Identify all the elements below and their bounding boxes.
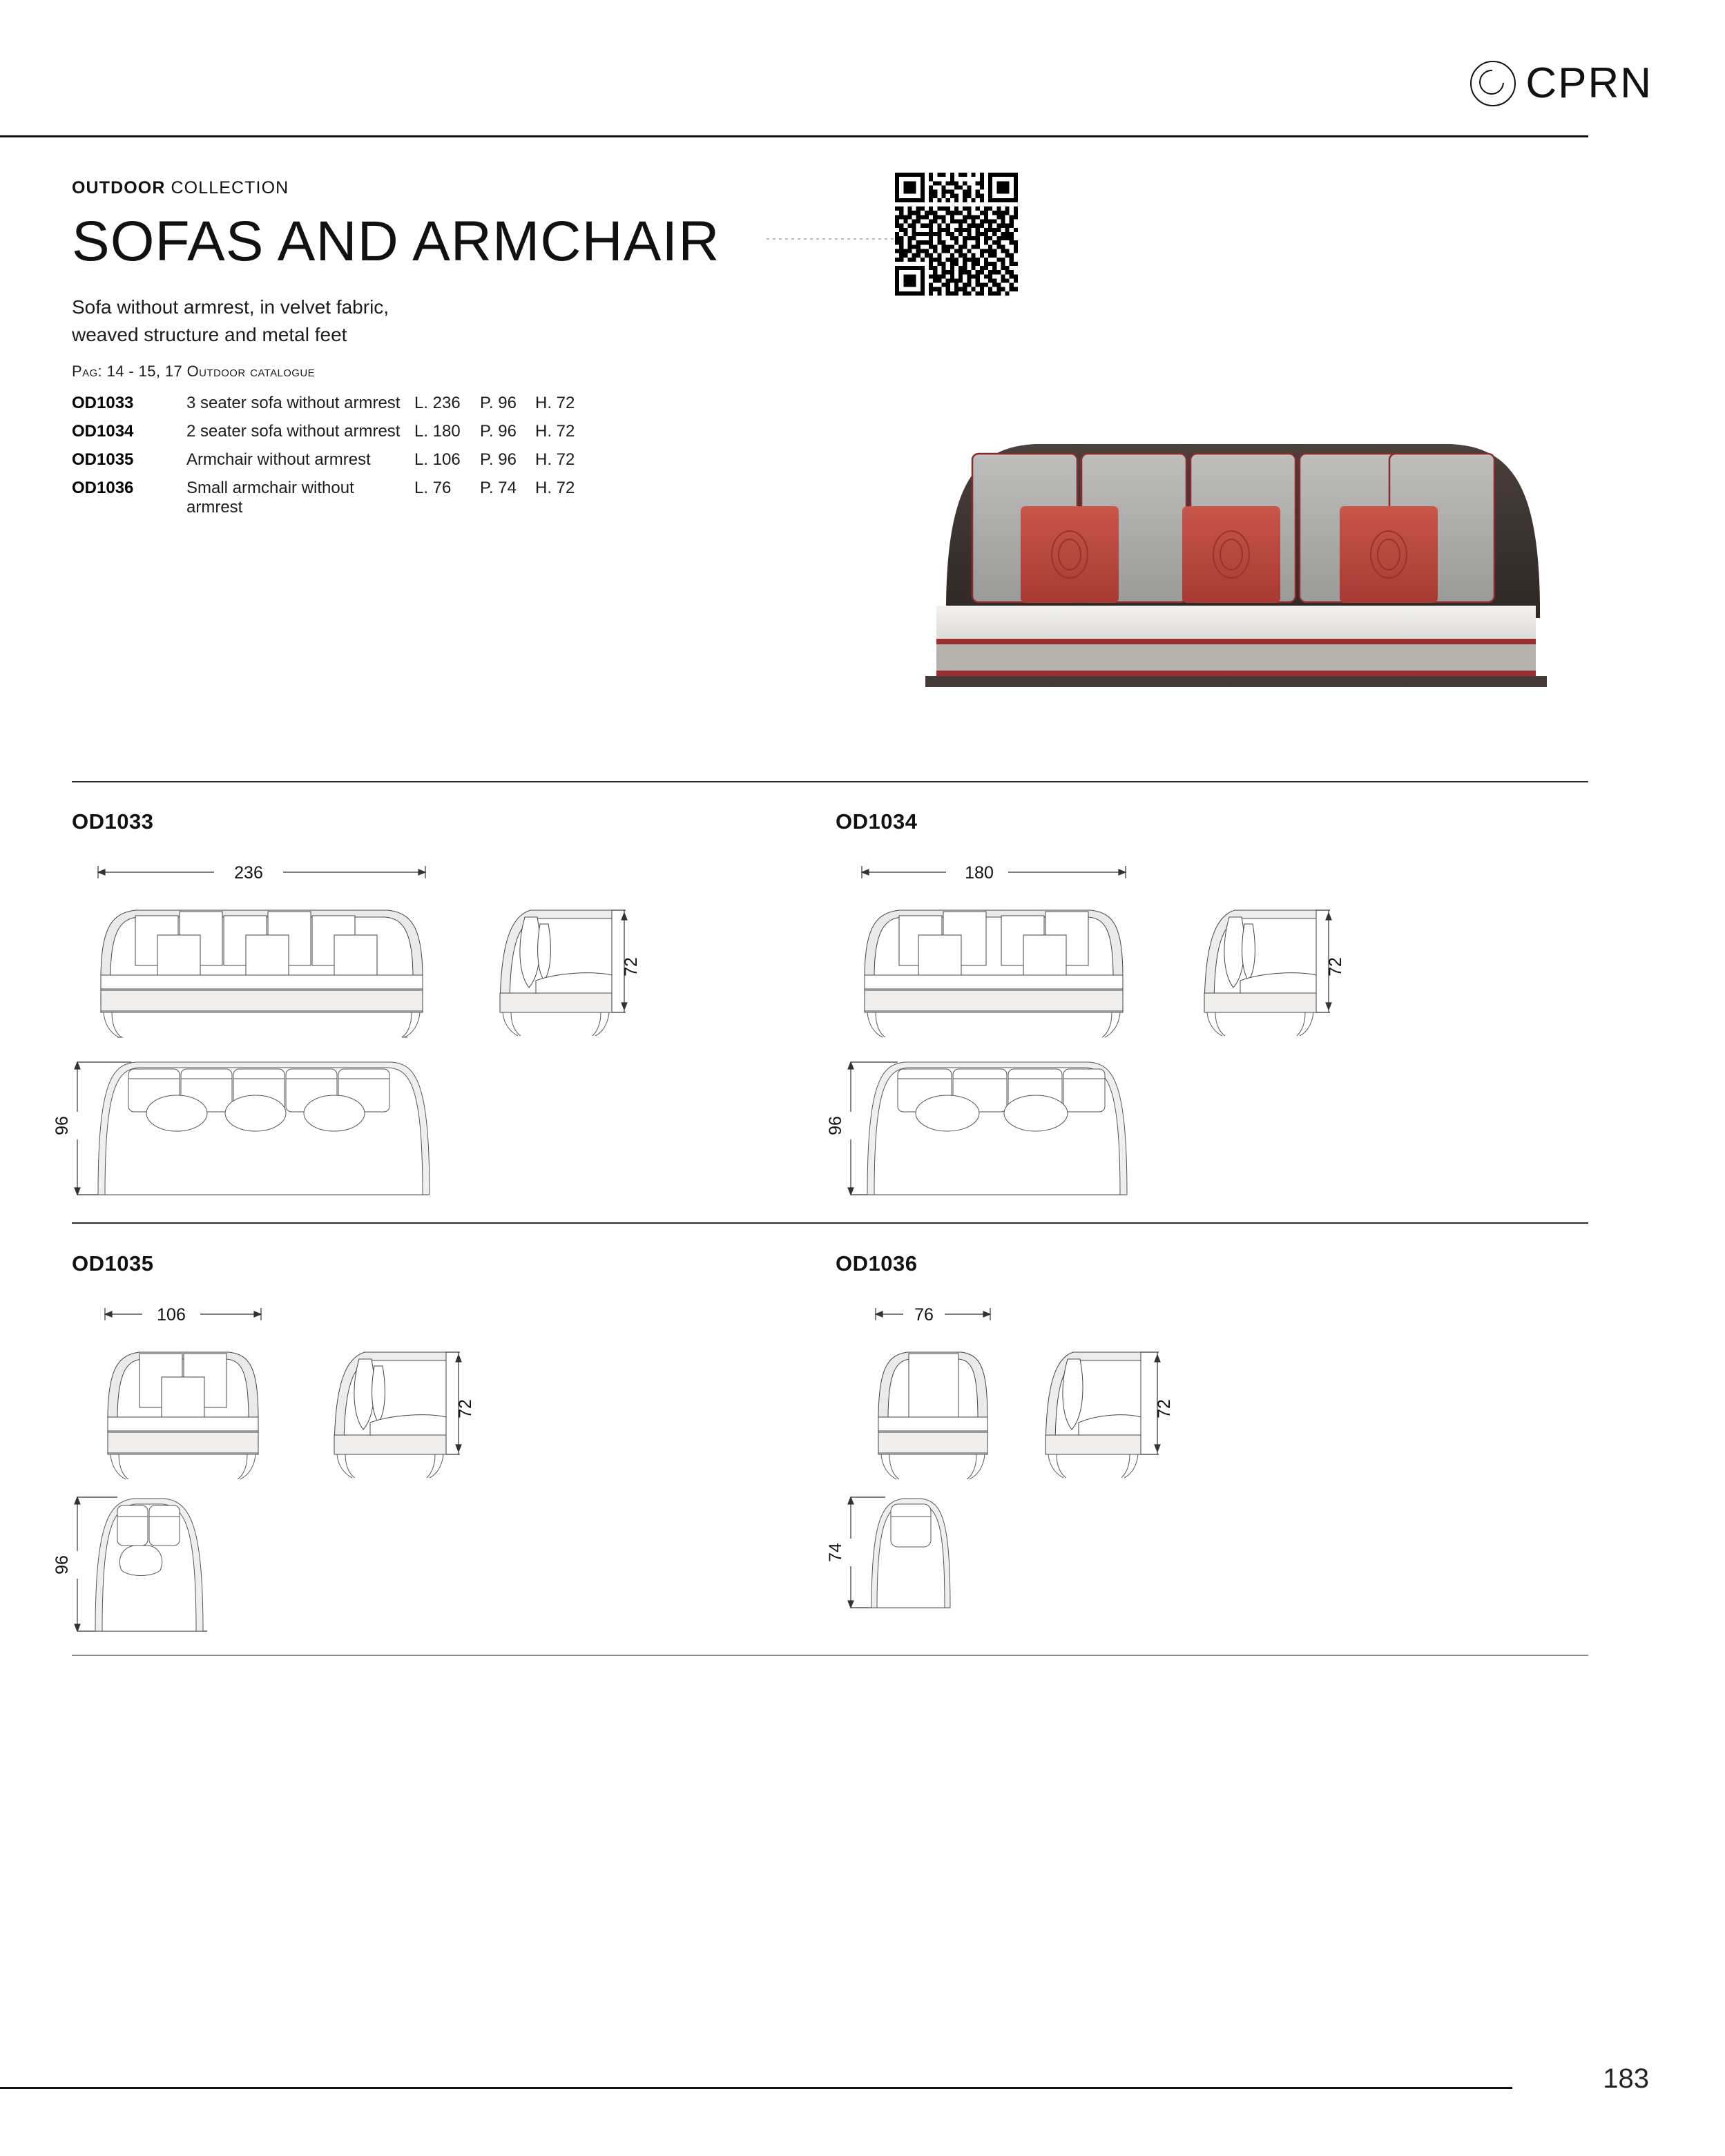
catalogue-page: CPRN OUTDOOR COLLECTION SOFAS AND ARMCHA… — [0, 0, 1725, 2156]
collection-eyebrow: OUTDOOR COLLECTION — [72, 178, 845, 198]
dimension-height-label: 72 — [1155, 1399, 1174, 1418]
collection-eyebrow-bold: OUTDOOR — [72, 178, 165, 198]
dimension-depth-label: 96 — [52, 1555, 72, 1575]
sofa-render-image — [898, 404, 1574, 687]
qr-code[interactable] — [895, 173, 1018, 296]
specification-table: OD1033 3 seater sofa without armrest L. … — [72, 394, 590, 507]
drawing-od1034-front: 180 — [836, 849, 1167, 1015]
section-divider-middle — [72, 1222, 1588, 1224]
product-code: OD1036 — [72, 479, 186, 498]
qr-code-image — [895, 173, 1018, 296]
collection-eyebrow-light: COLLECTION — [171, 178, 289, 198]
circled-c-icon — [1470, 61, 1516, 106]
dimension-depth: P. 74 — [480, 479, 535, 498]
subtitle-line-2: weaved structure and metal feet — [72, 321, 845, 349]
brand-logo: CPRN — [1470, 61, 1652, 106]
drawing-code-od1033: OD1033 — [72, 809, 153, 834]
table-row: OD1034 2 seater sofa without armrest L. … — [72, 422, 590, 450]
dimension-depth-label: 96 — [826, 1116, 845, 1135]
dimension-length: L. 106 — [414, 450, 480, 470]
drawing-od1033-side: 72 — [476, 849, 684, 1015]
drawing-od1033-top: 96 — [48, 1036, 476, 1209]
drawing-code-od1036: OD1036 — [836, 1251, 917, 1276]
drawing-od1036-front: 76 — [856, 1291, 1050, 1457]
subtitle-line-1: Sofa without armrest, in velvet fabric, — [72, 293, 845, 321]
drawing-code-od1034: OD1034 — [836, 809, 917, 834]
drawing-od1034-side: 72 — [1181, 849, 1388, 1015]
product-code: OD1033 — [72, 394, 186, 413]
product-photo — [898, 404, 1574, 687]
dimension-width-label: 106 — [157, 1305, 186, 1325]
accent-pillow-group — [1021, 506, 1438, 603]
product-info-block: OUTDOOR COLLECTION SOFAS AND ARMCHAIR So… — [72, 178, 845, 412]
product-description: 2 seater sofa without armrest — [186, 422, 414, 441]
dimension-length: L. 180 — [414, 422, 480, 441]
dimension-width-label: 76 — [914, 1305, 934, 1325]
drawing-od1033-front: 236 — [69, 849, 456, 1015]
dimension-length: L. 76 — [414, 479, 480, 498]
product-description: Armchair without armrest — [186, 450, 414, 470]
drawing-od1036-side: 72 — [1022, 1291, 1229, 1457]
product-subtitle: Sofa without armrest, in velvet fabric, … — [72, 293, 845, 349]
drawing-od1035-front: 106 — [83, 1291, 304, 1457]
dimension-height: H. 72 — [535, 479, 590, 498]
product-description: 3 seater sofa without armrest — [186, 394, 414, 413]
product-code: OD1035 — [72, 450, 186, 470]
table-row: OD1036 Small armchair without armrest L.… — [72, 479, 590, 507]
drawing-od1034-top: 96 — [822, 1036, 1208, 1209]
page-number: 183 — [1603, 2063, 1649, 2095]
dimension-depth: P. 96 — [480, 450, 535, 470]
product-code: OD1034 — [72, 422, 186, 441]
table-row: OD1033 3 seater sofa without armrest L. … — [72, 394, 590, 422]
footer-divider — [0, 2087, 1512, 2089]
dimension-length: L. 236 — [414, 394, 480, 413]
dimension-width-label: 180 — [965, 863, 994, 883]
dimension-height: H. 72 — [535, 394, 590, 413]
drawing-code-od1035: OD1035 — [72, 1251, 153, 1276]
dimension-depth: P. 96 — [480, 394, 535, 413]
drawing-od1035-side: 72 — [311, 1291, 518, 1457]
section-divider-top — [72, 781, 1588, 782]
dimension-height-label: 72 — [456, 1399, 475, 1418]
dimension-height-label: 72 — [621, 957, 641, 976]
dimension-height: H. 72 — [535, 422, 590, 441]
drawing-od1036-top: 74 — [822, 1485, 1043, 1644]
page-title: SOFAS AND ARMCHAIR — [72, 213, 845, 270]
dimension-depth-label: 74 — [826, 1543, 845, 1562]
title-leader-line — [767, 238, 905, 240]
dimension-depth-label: 96 — [52, 1116, 72, 1135]
section-divider-bottom — [72, 1655, 1588, 1656]
table-row: OD1035 Armchair without armrest L. 106 P… — [72, 450, 590, 479]
catalogue-page-reference: Pag: 14 - 15, 17 Outdoor catalogue — [72, 363, 845, 381]
dimension-height-label: 72 — [1326, 957, 1345, 976]
brand-name: CPRN — [1525, 62, 1652, 105]
drawing-od1035-top: 96 — [48, 1485, 283, 1644]
dimension-depth: P. 96 — [480, 422, 535, 441]
dimension-width-label: 236 — [234, 863, 263, 883]
dimension-height: H. 72 — [535, 450, 590, 470]
header-divider — [0, 135, 1588, 137]
product-description: Small armchair without armrest — [186, 479, 414, 517]
